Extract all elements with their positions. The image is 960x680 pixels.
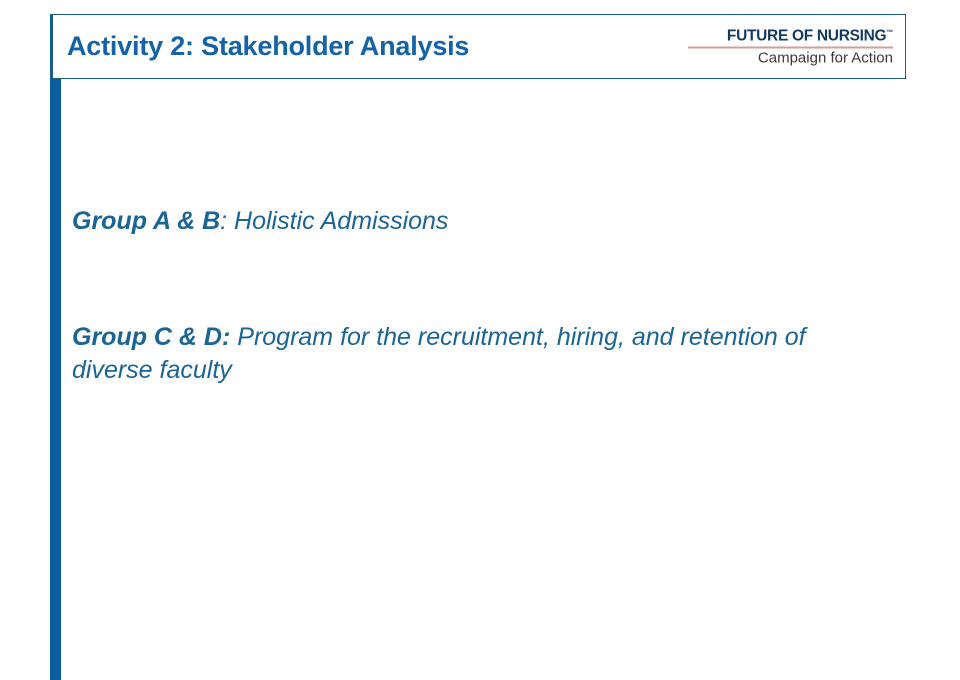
slide-header: Activity 2: Stakeholder Analysis FUTURE … [52, 14, 906, 79]
page-title: Activity 2: Stakeholder Analysis [67, 30, 469, 61]
logo-divider-rule [688, 47, 893, 49]
left-accent-bar [50, 14, 61, 680]
body-line-group-ab: Group A & B: Holistic Admissions [72, 205, 872, 238]
group-cd-label: Group C & D: [72, 323, 230, 351]
slide-body: Group A & B: Holistic Admissions Group C… [72, 205, 872, 387]
group-ab-topic: : Holistic Admissions [220, 207, 448, 235]
logo-secondary-text: Campaign for Action [688, 50, 893, 65]
body-line-group-cd: Group C & D: Program for the recruitment… [72, 321, 872, 387]
logo-primary-label: FUTURE OF NURSING [727, 27, 886, 44]
group-ab-label: Group A & B [72, 207, 220, 235]
campaign-logo: FUTURE OF NURSING™ Campaign for Action [688, 28, 893, 65]
slide-canvas: Activity 2: Stakeholder Analysis FUTURE … [0, 0, 960, 680]
trademark-icon: ™ [886, 29, 893, 36]
logo-primary-text: FUTURE OF NURSING™ [688, 28, 893, 44]
